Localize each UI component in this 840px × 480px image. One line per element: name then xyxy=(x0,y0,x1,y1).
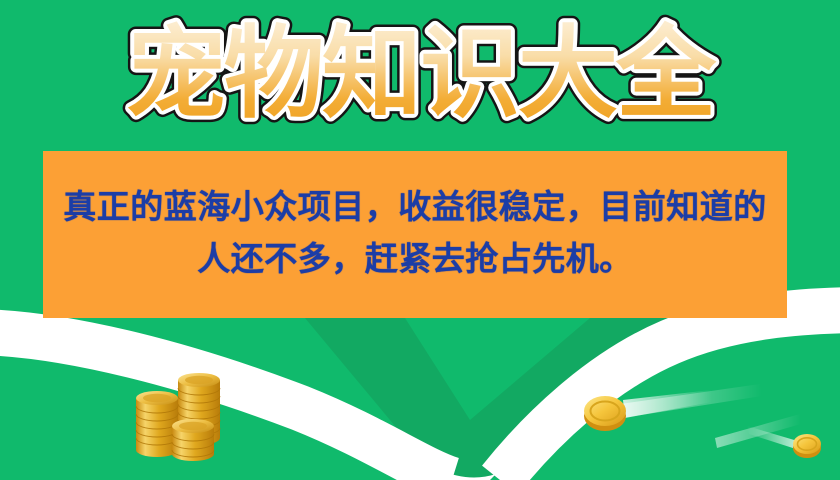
headline-banner: 真正的蓝海小众项目，收益很稳定，目前知道的人还不多，赶紧去抢占先机。 xyxy=(43,151,787,318)
gold-coin-stack xyxy=(132,366,228,462)
headline-text: 真正的蓝海小众项目，收益很稳定，目前知道的人还不多，赶紧去抢占先机。 xyxy=(57,181,773,283)
title-text: 宠物知识大全 xyxy=(126,15,717,132)
coin-stack-front xyxy=(172,419,214,461)
flying-coin-large-icon xyxy=(583,386,713,438)
poster-title: 宠物知识大全 宠物知识大全 宠物知识大全 xyxy=(0,12,840,134)
coin-stack-left xyxy=(136,391,178,457)
coin-trail-small xyxy=(747,426,801,450)
flying-gold-coin-large xyxy=(583,386,713,438)
flying-gold-coin-small xyxy=(745,420,830,465)
title-artwork: 宠物知识大全 宠物知识大全 宠物知识大全 xyxy=(110,12,730,134)
poster-canvas: 宠物知识大全 宠物知识大全 宠物知识大全 真正的蓝海小众项目，收益很稳定，目前知… xyxy=(0,0,840,480)
coin-trail-large xyxy=(623,390,712,418)
flying-coin-small-icon xyxy=(745,420,830,465)
coin-stack-icon xyxy=(132,366,228,462)
